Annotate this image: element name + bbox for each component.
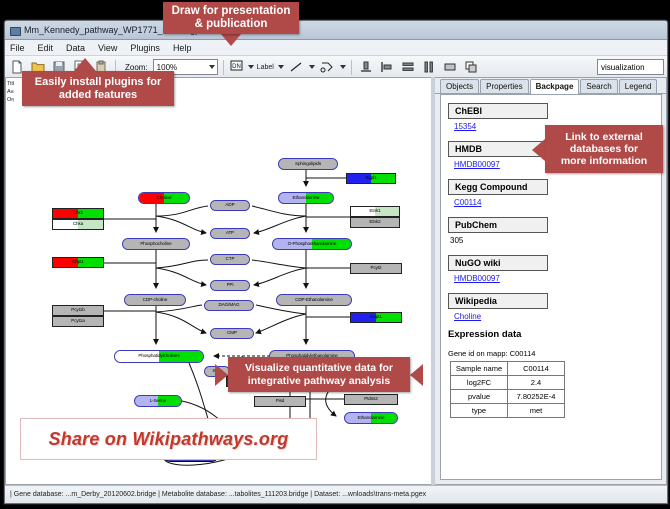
- node-label: Pcyt2: [371, 266, 382, 271]
- callout-visualize-right-arrow-icon: [410, 364, 423, 386]
- node-label: Ethanolamine: [293, 196, 320, 201]
- pathway-node-atp[interactable]: ATP: [210, 228, 250, 239]
- align-left-icon[interactable]: [378, 58, 396, 76]
- node-label: Choline: [157, 196, 172, 201]
- status-bar: | Gene database: ...m_Derby_20120602.bri…: [5, 485, 667, 503]
- table-cell-value: C00114: [508, 362, 565, 376]
- share-banner-text: Share on Wikipathways.org: [49, 429, 289, 450]
- pathway-node-dag-mag[interactable]: DAG/MAG: [204, 300, 254, 311]
- node-label: Cept1: [370, 315, 382, 320]
- pathway-node-ppi[interactable]: PPi: [210, 280, 250, 291]
- toolbar-separator-3: [351, 60, 352, 75]
- gene-id-line: Gene id on mapp: C00114: [448, 349, 661, 358]
- table-row: pvalue7.80252E-4: [451, 390, 565, 404]
- pathway-node-cept1[interactable]: Cept1: [350, 312, 402, 323]
- node-label: Pisd: [276, 399, 285, 404]
- pathway-node-adp[interactable]: ADP: [210, 200, 250, 211]
- table-cell-key: pvalue: [451, 390, 508, 404]
- pathway-node-etnk2[interactable]: Etnk2: [350, 217, 400, 228]
- database-header: Kegg Compound: [448, 179, 548, 195]
- node-label: O-Phosphoethanolamine: [288, 242, 337, 247]
- table-cell-key: Sample name: [451, 362, 508, 376]
- table-cell-value: 7.80252E-4: [508, 390, 565, 404]
- table-row: log2FC2.4: [451, 376, 565, 390]
- node-label: Ptdss2: [364, 397, 377, 402]
- expression-data-heading: Expression data: [448, 329, 661, 340]
- pathway-node-etnk1[interactable]: Etnk1: [350, 206, 400, 217]
- line-dropdown-icon[interactable]: [309, 65, 315, 69]
- data-node-dropdown-icon[interactable]: [248, 65, 254, 69]
- expression-data-table: Sample nameC00114log2FC2.4pvalue7.80252E…: [450, 361, 565, 418]
- callout-plugins-text: Easily install plugins foradded features: [35, 76, 162, 101]
- pathway-node-phosphatidylcholines[interactable]: Phosphatidylcholines: [114, 350, 204, 363]
- pathway-node-pcyt2[interactable]: Pcyt2: [350, 263, 402, 274]
- node-label: CDP-choline: [143, 298, 168, 303]
- toolbar-separator-2: [223, 60, 224, 75]
- pathway-node-o-phosphoethanolamine[interactable]: O-Phosphoethanolamine: [272, 238, 352, 250]
- callout-visualize-left-arrow-icon: [215, 364, 228, 386]
- callout-draw-arrow-icon: [220, 33, 242, 46]
- pathway-node-chka[interactable]: Chka: [52, 219, 104, 230]
- pathway-node-cmp[interactable]: CMP: [210, 328, 254, 339]
- pathway-node-sgpl1[interactable]: Sgpl1: [346, 173, 396, 184]
- pathway-node-ethanolamine[interactable]: Ethanolamine: [344, 412, 398, 424]
- screenshot-root: Mm_Kennedy_pathway_WP1771_45176.gpml Fil…: [0, 0, 670, 509]
- tab-objects[interactable]: Objects: [440, 79, 479, 93]
- tab-properties[interactable]: Properties: [480, 79, 528, 93]
- table-cell-value: 2.4: [508, 376, 565, 390]
- align-bottom-icon[interactable]: [357, 58, 375, 76]
- window-titlebar: Mm_Kennedy_pathway_WP1771_45176.gpml: [5, 21, 667, 40]
- database-link[interactable]: C00114: [454, 198, 661, 207]
- node-label: Chpt1: [72, 260, 84, 265]
- pathway-node-choline[interactable]: Choline: [138, 192, 190, 204]
- pathway-node-pcyt1a[interactable]: Pcyt1a: [52, 316, 104, 327]
- node-label: Phosphatidylcholines: [138, 354, 179, 359]
- order-icon[interactable]: [462, 58, 480, 76]
- anchor-dropdown-icon[interactable]: [340, 65, 346, 69]
- node-label: Pcyt1b: [71, 308, 84, 313]
- node-label: Chkb: [73, 211, 83, 216]
- menu-help[interactable]: Help: [171, 43, 194, 53]
- node-label: Etnk2: [369, 220, 380, 225]
- visualization-combo[interactable]: visualization: [597, 59, 664, 75]
- pathway-node-phosphocholine[interactable]: Phosphocholine: [122, 238, 190, 250]
- menu-plugins[interactable]: Plugins: [128, 43, 162, 53]
- node-label: ATP: [226, 231, 234, 236]
- node-label: Sphingolipids: [295, 162, 321, 167]
- database-header: Wikipedia: [448, 293, 548, 309]
- node-label: Pcyt1a: [71, 319, 84, 324]
- node-label: CTP: [226, 257, 235, 262]
- status-bar-text: | Gene database: ...m_Derby_20120602.bri…: [5, 491, 426, 498]
- node-label: Phosphocholine: [140, 242, 171, 247]
- node-label: Chka: [73, 222, 83, 227]
- distribute-vertical-icon[interactable]: [399, 58, 417, 76]
- database-header: PubChem: [448, 217, 548, 233]
- pathway-node-l-serine[interactable]: L-Serine: [134, 395, 182, 407]
- table-row: typemet: [451, 404, 565, 418]
- node-label: CDP-Ethanolamine: [295, 298, 333, 303]
- pathway-node-cdp-ethanolamine[interactable]: CDP-Ethanolamine: [276, 294, 352, 306]
- pathway-node-sphingolipids[interactable]: Sphingolipids: [278, 158, 338, 170]
- data-node-icon[interactable]: DN: [229, 58, 244, 76]
- menu-edit[interactable]: Edit: [36, 43, 56, 53]
- tab-search[interactable]: Search: [580, 79, 617, 93]
- node-label: DAG/MAG: [219, 303, 240, 308]
- visualization-value: visualization: [601, 63, 645, 72]
- menu-file[interactable]: File: [8, 43, 27, 53]
- callout-link-text: Link to externaldatabases formore inform…: [561, 131, 647, 167]
- menu-data[interactable]: Data: [64, 43, 87, 53]
- anchor-icon[interactable]: [318, 58, 336, 76]
- callout-link-arrow-icon: [532, 139, 545, 161]
- pathway-node-chkb[interactable]: Chkb: [52, 208, 104, 219]
- database-header: ChEBI: [448, 103, 548, 119]
- application-icon: [9, 25, 20, 36]
- side-panel-tabs: Objects Properties Backpage Search Legen…: [435, 78, 666, 94]
- pathway-node-pcyt1b[interactable]: Pcyt1b: [52, 305, 104, 316]
- database-value: 305: [450, 236, 661, 245]
- line-icon[interactable]: [287, 58, 305, 76]
- label-dropdown-icon[interactable]: [278, 65, 284, 69]
- node-label: Sgpl1: [365, 176, 376, 181]
- menu-bar: File Edit Data View Plugins Help: [5, 40, 667, 56]
- callout-visualize-text: Visualize quantitative data forintegrati…: [245, 362, 393, 386]
- pathway-node-ptdss2[interactable]: Ptdss2: [344, 394, 398, 405]
- share-banner: Share on Wikipathways.org: [20, 418, 317, 460]
- distribute-horizontal-icon[interactable]: [420, 58, 438, 76]
- tab-backpage[interactable]: Backpage: [530, 79, 580, 94]
- callout-draw-text: Draw for presentation& publication: [172, 5, 291, 31]
- pathway-node-cdp-choline[interactable]: CDP-choline: [124, 294, 186, 306]
- table-cell-value: met: [508, 404, 565, 418]
- callout-plugins-arrow-icon: [74, 58, 96, 71]
- tab-legend[interactable]: Legend: [619, 79, 658, 93]
- node-label: Etnk1: [369, 209, 380, 214]
- label-tool-label[interactable]: Label: [257, 64, 274, 71]
- pathway-node-ethanolamine[interactable]: Ethanolamine: [278, 192, 334, 204]
- callout-visualize-data: Visualize quantitative data forintegrati…: [228, 357, 410, 392]
- chevron-down-icon: [209, 65, 215, 69]
- node-label: Ethanolamine: [358, 416, 385, 421]
- pathway-node-chpt1[interactable]: Chpt1: [52, 257, 104, 268]
- stack-icon[interactable]: [441, 58, 459, 76]
- callout-external-links: Link to externaldatabases formore inform…: [545, 125, 663, 173]
- node-label: CMP: [227, 331, 237, 336]
- database-link[interactable]: HMDB00097: [454, 274, 661, 283]
- callout-draw-for-publication: Draw for presentation& publication: [163, 2, 299, 34]
- node-label: PPi: [227, 283, 234, 288]
- svg-text:DN: DN: [232, 64, 241, 70]
- table-cell-key: type: [451, 404, 508, 418]
- database-header: NuGO wiki: [448, 255, 548, 271]
- table-cell-key: log2FC: [451, 376, 508, 390]
- callout-install-plugins: Easily install plugins foradded features: [22, 71, 174, 106]
- pathway-node-ctp[interactable]: CTP: [210, 254, 250, 265]
- database-link[interactable]: Choline: [454, 312, 661, 321]
- table-row: Sample nameC00114: [451, 362, 565, 376]
- node-label: ADP: [225, 203, 234, 208]
- pathway-node-pisd[interactable]: Pisd: [254, 396, 306, 407]
- menu-view[interactable]: View: [96, 43, 119, 53]
- node-label: L-Serine: [150, 399, 167, 404]
